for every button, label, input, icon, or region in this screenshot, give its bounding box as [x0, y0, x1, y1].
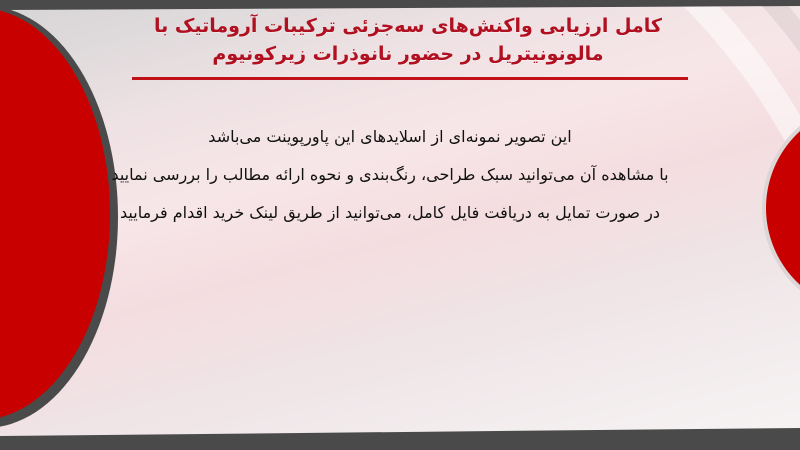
slide-body-line-1: این تصویر نمونه‌ای از اسلایدهای این پاور… — [90, 118, 690, 156]
slide-body-line-2: با مشاهده آن می‌توانید سبک طراحی، رنگ‌بن… — [90, 156, 690, 194]
slide-title-line-2: مالونونیتریل در حضور نانوذرات زیرکونیوم — [120, 40, 696, 68]
slide-title-line-1: کامل ارزیابی واکنش‌های سه‌جزئی ترکیبات آ… — [120, 12, 696, 40]
slide-body-line-3: در صورت تمایل به دریافت فایل کامل، می‌تو… — [90, 194, 690, 232]
slide-body-text: این تصویر نمونه‌ای از اسلایدهای این پاور… — [90, 118, 690, 232]
slide-title: کامل ارزیابی واکنش‌های سه‌جزئی ترکیبات آ… — [120, 12, 696, 68]
title-underline-rule — [132, 77, 688, 80]
presentation-slide: کامل ارزیابی واکنش‌های سه‌جزئی ترکیبات آ… — [0, 0, 800, 450]
